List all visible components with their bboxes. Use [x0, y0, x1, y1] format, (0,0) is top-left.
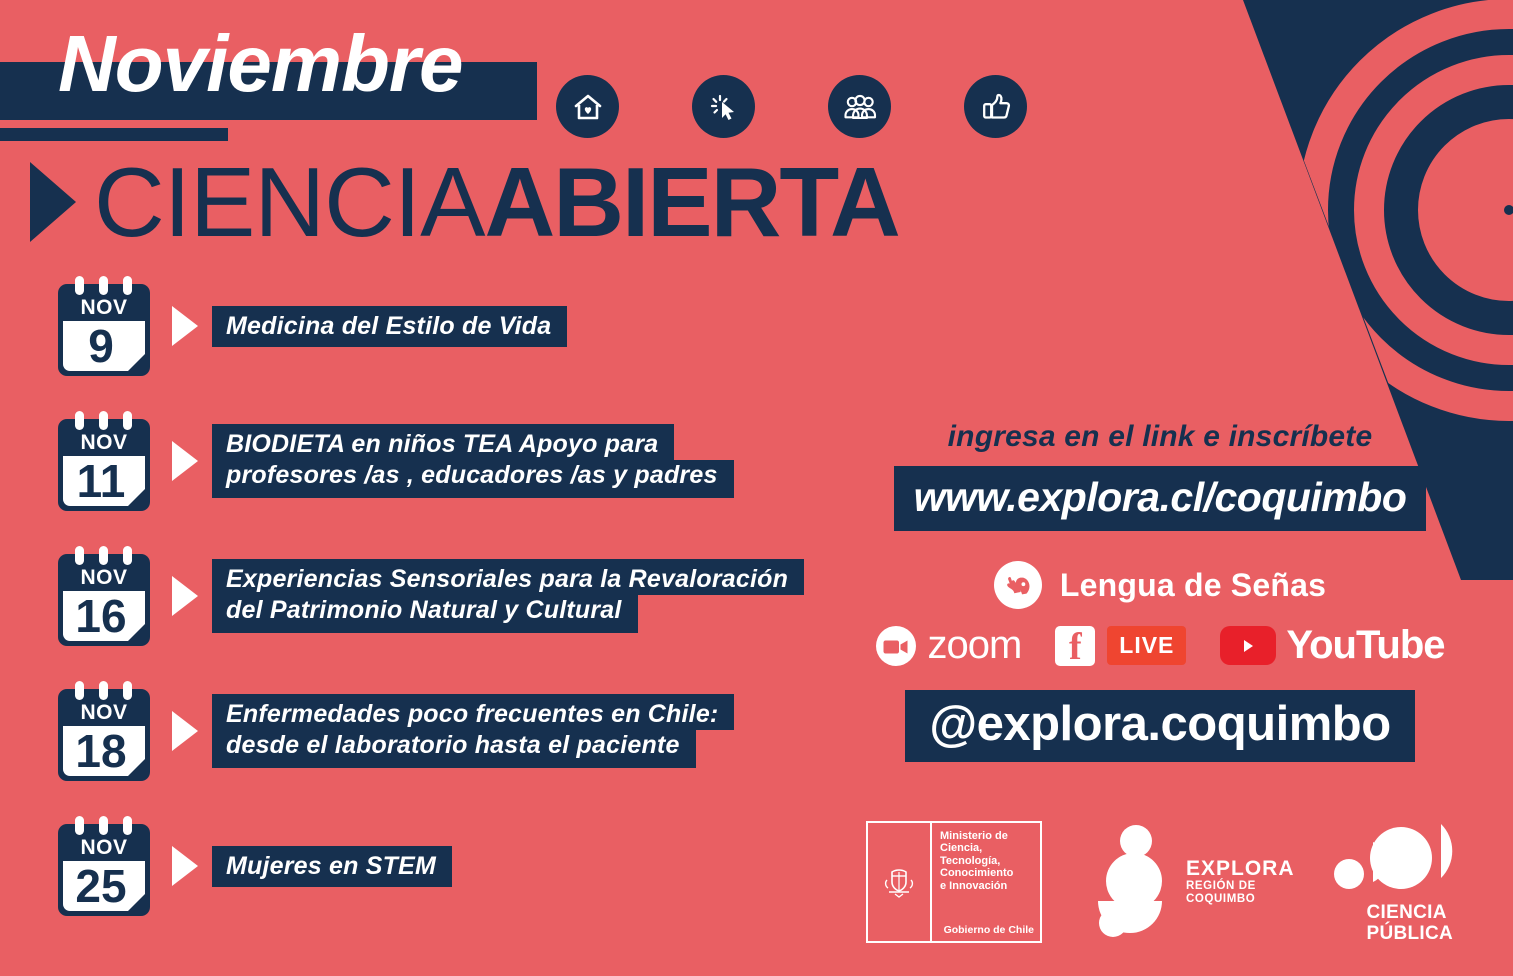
schedule-item: NOV 9 Medicina del Estilo de Vida — [58, 272, 818, 380]
zoom-camera-icon — [875, 625, 917, 667]
schedule-item: NOV 18 Enfermedades poco frecuentes en C… — [58, 677, 818, 785]
schedule-title-line: Enfermedades poco frecuentes en Chile: — [212, 694, 734, 730]
people-group-icon — [828, 75, 891, 138]
schedule-title-block: Mujeres en STEM — [212, 846, 452, 887]
ciencia-publica-logo: CIENCIA PÚBLICA — [1333, 820, 1483, 944]
arrow-right-icon — [172, 846, 198, 886]
schedule-title-block: Experiencias Sensoriales para la Revalor… — [212, 559, 804, 633]
page-title: CIENCIA ABIERTA — [30, 148, 899, 256]
month-rule-decor — [0, 128, 228, 141]
youtube-logo: YouTube — [1220, 623, 1444, 668]
explora-logo: EXPLORA REGIÓN DE COQUIMBO — [1080, 823, 1295, 941]
calendar-icon: NOV 16 — [58, 546, 150, 646]
zoom-logo: zoom — [875, 623, 1021, 668]
ministry-name: Ministerio de Ciencia, Tecnología, Conoc… — [940, 830, 1034, 893]
facebook-live-logo: f LIVE — [1055, 626, 1186, 666]
schedule-title-line: Mujeres en STEM — [212, 846, 452, 887]
schedule-title-block: BIODIETA en niños TEA Apoyo para profeso… — [212, 424, 734, 498]
calendar-icon: NOV 18 — [58, 681, 150, 781]
platform-row: zoom f LIVE YouTube — [860, 623, 1460, 668]
youtube-label: YouTube — [1286, 623, 1444, 668]
schedule-item: NOV 25 Mujeres en STEM — [58, 812, 818, 920]
play-triangle-icon — [30, 162, 76, 242]
schedule-title-block: Medicina del Estilo de Vida — [212, 306, 567, 347]
calendar-icon: NOV 11 — [58, 411, 150, 511]
cta-prompt: ingresa en el link e inscríbete — [860, 420, 1460, 454]
poster-root: Noviembre — [0, 0, 1513, 976]
calendar-month: NOV — [58, 836, 150, 860]
explora-name: EXPLORA — [1186, 858, 1295, 880]
schedule-item: NOV 16 Experiencias Sensoriales para la … — [58, 542, 818, 650]
registration-url[interactable]: www.explora.cl/coquimbo — [894, 466, 1427, 531]
calendar-day: 11 — [58, 455, 144, 507]
accessibility-row: Lengua de Señas — [860, 561, 1460, 609]
cursor-click-icon — [692, 75, 755, 138]
registration-block: ingresa en el link e inscríbete www.expl… — [860, 420, 1460, 762]
explora-sub-line: COQUIMBO — [1186, 893, 1295, 906]
facebook-f-icon: f — [1055, 626, 1095, 666]
calendar-month: NOV — [58, 701, 150, 725]
accessibility-label: Lengua de Señas — [1060, 567, 1326, 604]
schedule-list: NOV 9 Medicina del Estilo de Vida NOV 11… — [58, 272, 818, 947]
home-heart-icon — [556, 75, 619, 138]
ministry-logo: Ministerio de Ciencia, Tecnología, Conoc… — [866, 821, 1042, 943]
live-badge: LIVE — [1107, 626, 1186, 665]
ministry-footer: Gobierno de Chile — [940, 924, 1034, 936]
ciencia-publica-mark-icon — [1333, 820, 1483, 900]
ministry-line: Ciencia, — [940, 842, 1034, 855]
arrow-right-icon — [172, 576, 198, 616]
arrow-right-icon — [172, 441, 198, 481]
title-word-abierta: ABIERTA — [485, 153, 899, 251]
ministry-line: Ministerio de — [940, 830, 1034, 843]
zoom-label: zoom — [927, 623, 1021, 668]
schedule-title-line: desde el laboratorio hasta el paciente — [212, 730, 696, 768]
calendar-day: 18 — [58, 725, 144, 777]
calendar-day: 25 — [58, 860, 144, 912]
arrow-right-icon — [172, 306, 198, 346]
ministry-line: Conocimiento — [940, 867, 1034, 880]
calendar-day: 9 — [58, 320, 144, 372]
schedule-title-line: profesores /as , educadores /as y padres — [212, 460, 734, 498]
explora-sub-line: REGIÓN DE — [1186, 880, 1295, 893]
calendar-month: NOV — [58, 296, 150, 320]
schedule-title-line: del Patrimonio Natural y Cultural — [212, 595, 638, 633]
ministry-line: Tecnología, — [940, 855, 1034, 868]
sponsor-logo-row: Ministerio de Ciencia, Tecnología, Conoc… — [866, 818, 1513, 945]
title-word-ciencia: CIENCIA — [94, 153, 485, 251]
calendar-icon: NOV 25 — [58, 816, 150, 916]
schedule-title-line: Medicina del Estilo de Vida — [212, 306, 567, 347]
calendar-day: 16 — [58, 590, 144, 642]
schedule-title-block: Enfermedades poco frecuentes en Chile: d… — [212, 694, 734, 768]
month-label: Noviembre — [58, 18, 462, 110]
schedule-title-line: Experiencias Sensoriales para la Revalor… — [212, 559, 804, 595]
social-handle[interactable]: @explora.coquimbo — [905, 690, 1414, 762]
ciencia-publica-line: PÚBLICA — [1367, 923, 1483, 944]
explora-mark-icon — [1080, 823, 1180, 941]
ciencia-publica-line: CIENCIA — [1367, 902, 1483, 923]
calendar-icon: NOV 9 — [58, 276, 150, 376]
thumbs-up-icon — [964, 75, 1027, 138]
chile-coat-of-arms-icon — [868, 823, 932, 941]
arrow-right-icon — [172, 711, 198, 751]
schedule-item: NOV 11 BIODIETA en niños TEA Apoyo para … — [58, 407, 818, 515]
youtube-play-icon — [1220, 626, 1276, 665]
schedule-title-line: BIODIETA en niños TEA Apoyo para — [212, 424, 674, 460]
calendar-month: NOV — [58, 431, 150, 455]
header-icon-row — [556, 75, 1027, 138]
calendar-month: NOV — [58, 566, 150, 590]
sign-language-icon — [994, 561, 1042, 609]
ministry-line: e Innovación — [940, 880, 1034, 893]
